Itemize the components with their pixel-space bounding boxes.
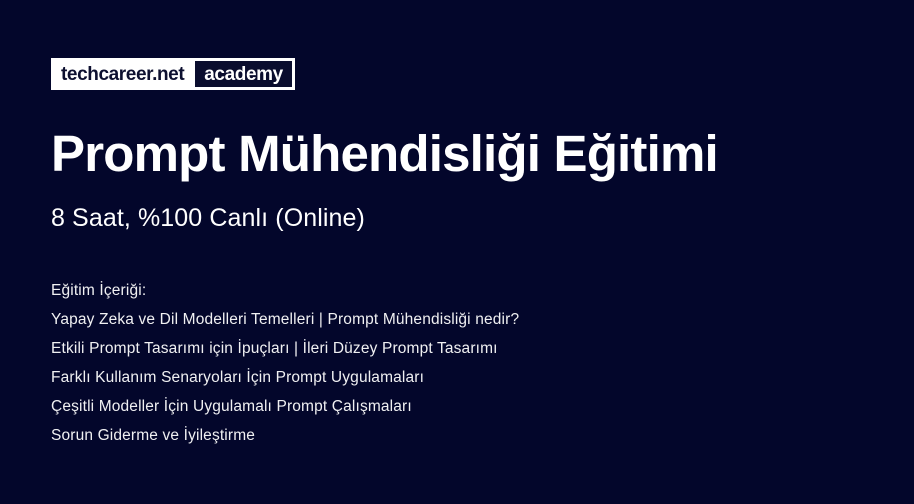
content-heading: Eğitim İçeriği: [51,276,871,305]
training-promo-poster: techcareer.net academy Prompt Mühendisli… [0,0,914,504]
techcareer-academy-logo: techcareer.net academy [51,58,295,90]
page-subtitle: 8 Saat, %100 Canlı (Online) [51,203,365,233]
content-item: Çeşitli Modeller İçin Uygulamalı Prompt … [51,392,871,421]
logo-brand-text: techcareer.net [51,58,193,90]
training-content-block: Eğitim İçeriği: Yapay Zeka ve Dil Modell… [51,276,871,450]
content-item: Farklı Kullanım Senaryoları İçin Prompt … [51,363,871,392]
content-item: Yapay Zeka ve Dil Modelleri Temelleri | … [51,305,871,334]
content-item: Etkili Prompt Tasarımı için İpuçları | İ… [51,334,871,363]
page-title: Prompt Mühendisliği Eğitimi [51,126,718,181]
content-item: Sorun Giderme ve İyileştirme [51,421,871,450]
logo-academy-badge: academy [193,59,294,89]
